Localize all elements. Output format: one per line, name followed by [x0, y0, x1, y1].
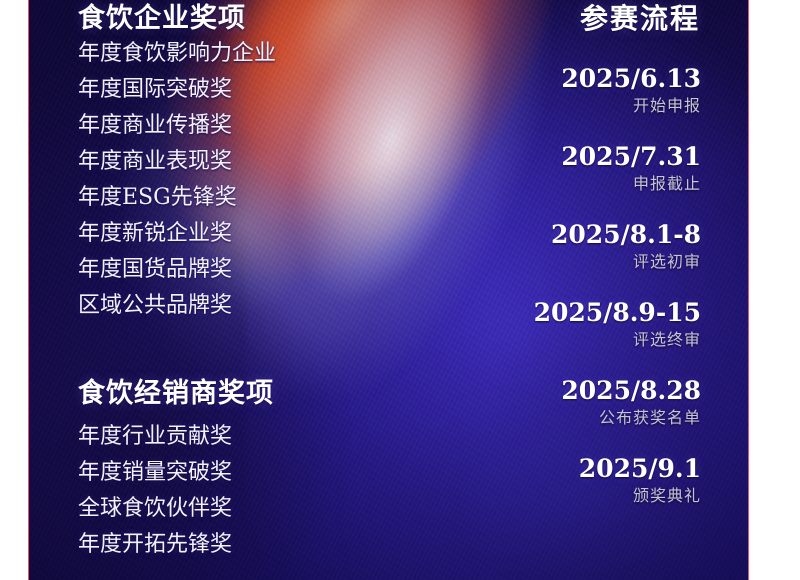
list-item: 全球食饮伙伴奖: [78, 491, 328, 527]
timeline-date: 2025/8.1-8: [500, 219, 701, 250]
timeline-label: 评选终审: [500, 328, 701, 351]
timeline-date: 2025/8.28: [500, 375, 701, 406]
left-accent-rule: [28, 0, 29, 580]
timeline-item: 2025/8.28 公布获奖名单: [500, 375, 701, 429]
list-item: 年度ESG先锋奖: [78, 180, 328, 216]
timeline-date: 2025/7.31: [500, 141, 701, 172]
poster-content: 食饮企业奖项 年度食饮影响力企业 年度国际突破奖 年度商业传播奖 年度商业表现奖…: [0, 0, 800, 580]
timeline-item: 2025/8.1-8 评选初审: [500, 219, 701, 273]
poster-page: 食饮企业奖项 年度食饮影响力企业 年度国际突破奖 年度商业传播奖 年度商业表现奖…: [0, 0, 800, 580]
timeline-date: 2025/9.1: [500, 453, 701, 484]
list-item: 年度国际突破奖: [78, 72, 328, 108]
list-item: 年度销量突破奖: [78, 455, 328, 491]
timeline-item: 2025/8.9-15 评选终审: [500, 297, 701, 351]
section-heading-company-awards: 食饮企业奖项: [78, 0, 328, 36]
list-item: 年度新锐企业奖: [78, 216, 328, 252]
list-item: 年度商业表现奖: [78, 144, 328, 180]
timeline-label: 评选初审: [500, 250, 701, 273]
section-heading-dealer-awards: 食饮经销商奖项: [78, 377, 328, 411]
timeline-column: 参赛流程 2025/6.13 开始申报 2025/7.31 申报截止 2025/…: [500, 0, 701, 507]
list-item: 年度行业贡献奖: [78, 419, 328, 455]
timeline-item: 2025/9.1 颁奖典礼: [500, 453, 701, 507]
company-award-list: 年度食饮影响力企业 年度国际突破奖 年度商业传播奖 年度商业表现奖 年度ESG先…: [78, 36, 328, 324]
list-item: 年度食饮影响力企业: [78, 36, 328, 72]
right-accent-rule: [748, 0, 749, 580]
list-item: 年度开拓先锋奖: [78, 527, 328, 563]
timeline-date: 2025/8.9-15: [500, 297, 701, 328]
timeline-label: 申报截止: [500, 172, 701, 195]
list-item: 区域公共品牌奖: [78, 288, 328, 324]
list-item: 年度国货品牌奖: [78, 252, 328, 288]
timeline-label: 开始申报: [500, 94, 701, 117]
timeline-item: 2025/7.31 申报截止: [500, 141, 701, 195]
list-item: 年度商业传播奖: [78, 108, 328, 144]
timeline-label: 公布获奖名单: [500, 406, 701, 429]
timeline-date: 2025/6.13: [500, 63, 701, 94]
timeline-item: 2025/6.13 开始申报: [500, 63, 701, 117]
contest-timeline: 2025/6.13 开始申报 2025/7.31 申报截止 2025/8.1-8…: [500, 63, 701, 507]
dealer-award-list: 年度行业贡献奖 年度销量突破奖 全球食饮伙伴奖 年度开拓先锋奖: [78, 419, 328, 563]
timeline-label: 颁奖典礼: [500, 484, 701, 507]
awards-column: 食饮企业奖项 年度食饮影响力企业 年度国际突破奖 年度商业传播奖 年度商业表现奖…: [78, 0, 328, 563]
section-heading-contest-process: 参赛流程: [500, 0, 701, 37]
